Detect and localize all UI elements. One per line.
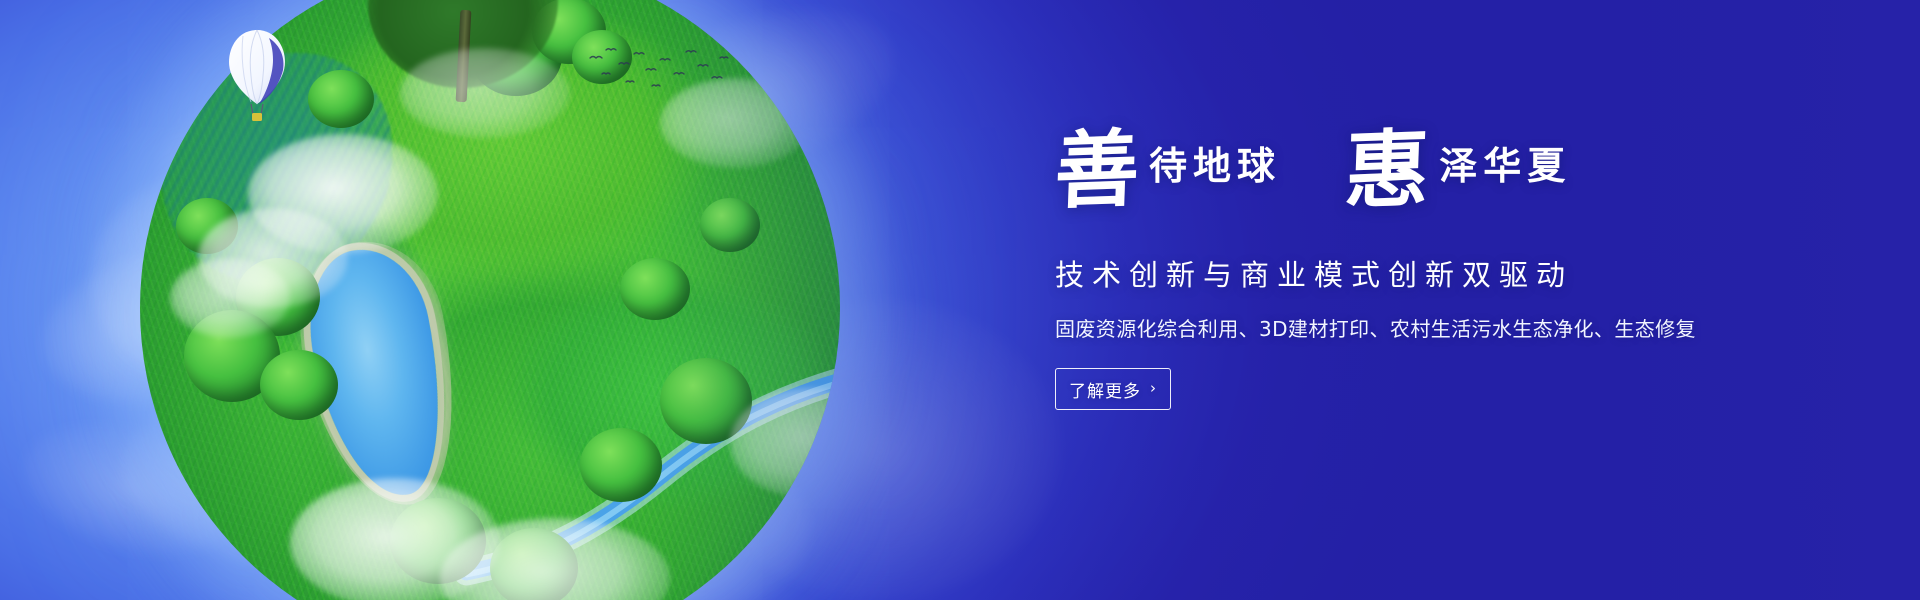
description: 固废资源化综合利用、3D建材打印、农村生活污水生态净化、生态修复 [1055, 313, 1795, 342]
tree-icon [308, 70, 374, 128]
learn-more-button[interactable]: 了解更多 › [1055, 368, 1171, 410]
headline-small-text-1: 待地球 [1149, 135, 1281, 190]
headline-phrase-one: 善待地球 [1055, 128, 1281, 212]
cloud-icon [170, 258, 290, 338]
tree-icon [700, 198, 760, 252]
headline-small-text-2: 泽华夏 [1439, 135, 1571, 190]
chevron-right-icon: › [1150, 381, 1157, 396]
hero-banner: 善待地球 惠泽华夏 技术创新与商业模式创新双驱动 固废资源化综合利用、3D建材打… [0, 0, 1920, 600]
page-title: 善待地球 惠泽华夏 [1055, 128, 1795, 238]
headline-big-char-1: 善 [1053, 127, 1140, 214]
hot-air-balloon-icon [225, 28, 289, 126]
hero-copy: 善待地球 惠泽华夏 技术创新与商业模式创新双驱动 固废资源化综合利用、3D建材打… [1055, 128, 1795, 410]
bird-flock-icon [586, 44, 736, 94]
learn-more-label: 了解更多 [1069, 377, 1141, 402]
subtitle: 技术创新与商业模式创新双驱动 [1055, 252, 1795, 294]
headline-phrase-two: 惠泽华夏 [1345, 128, 1571, 212]
tree-icon [580, 428, 662, 502]
tree-icon [260, 350, 338, 420]
tree-icon [620, 258, 690, 320]
cloud-icon [400, 48, 570, 138]
headline-big-char-2: 惠 [1344, 127, 1431, 214]
